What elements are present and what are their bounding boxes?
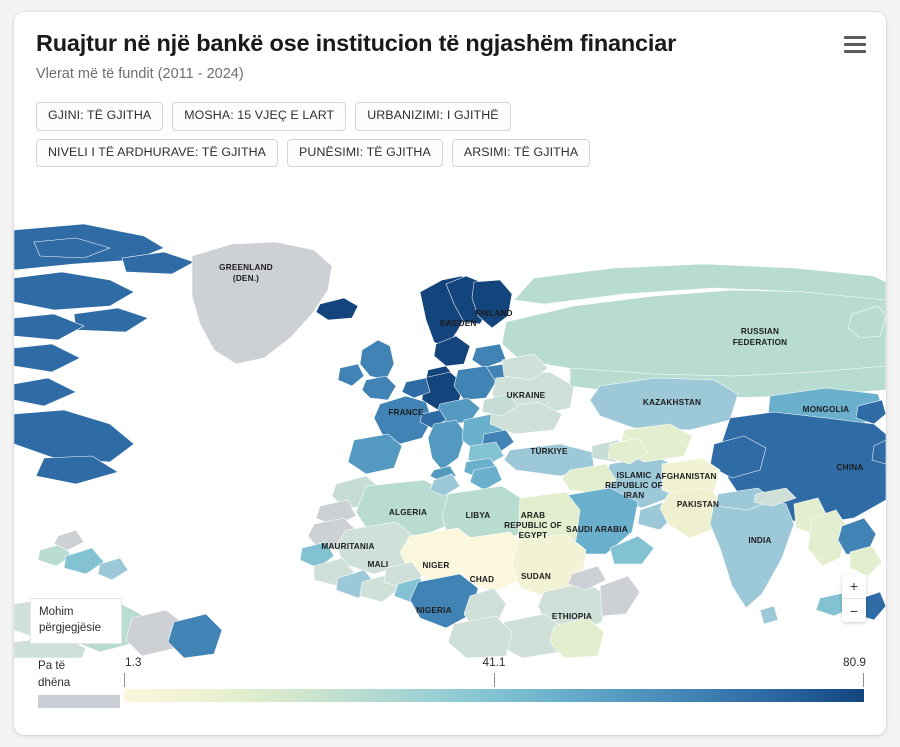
- legend-no-data: Pa të dhëna: [38, 657, 120, 708]
- filter-chip-gender[interactable]: GJINI: TË GJITHA: [36, 102, 163, 131]
- legend-no-data-label: Pa të dhëna: [38, 657, 120, 692]
- page-subtitle: Vlerat më të fundit (2011 - 2024): [36, 66, 864, 82]
- zoom-out-button[interactable]: −: [842, 598, 866, 622]
- legend-tick-mark: [494, 673, 495, 687]
- map-disclaimer[interactable]: Mohim përgjegjësie: [30, 598, 122, 644]
- page-title: Ruajtur në një bankë ose institucion të …: [36, 30, 864, 57]
- legend-no-data-swatch: [38, 695, 120, 708]
- hamburger-bar: [844, 50, 866, 53]
- legend-no-data-line2: dhëna: [38, 676, 70, 689]
- legend-gradient-bar: [124, 689, 864, 702]
- choropleth-map[interactable]: .c { stroke:#ffffff; stroke-width:0.55; …: [14, 218, 886, 658]
- legend-no-data-line1: Pa të: [38, 659, 65, 672]
- legend-tick-mark: [863, 673, 864, 687]
- hamburger-bar: [844, 43, 866, 46]
- map-legend: Pa të dhëna 1.3 41.1 80.9: [14, 649, 886, 735]
- hamburger-bar: [844, 36, 866, 39]
- filter-chip-group: GJINI: TË GJITHA MOSHA: 15 VJEÇ E LART U…: [14, 82, 774, 167]
- legend-tick-max: 80.9: [843, 657, 864, 687]
- filter-chip-urbanization[interactable]: URBANIZIMI: I GJITHË: [355, 102, 510, 131]
- map-zoom-controls[interactable]: + −: [842, 574, 866, 622]
- dashboard-card: Ruajtur në një bankë ose institucion të …: [14, 12, 886, 735]
- legend-tick-mid: 41.1: [494, 657, 517, 687]
- legend-tick-min: 1.3: [124, 657, 141, 687]
- filter-chip-education[interactable]: ARSIMI: TË GJITHA: [452, 139, 590, 168]
- filter-chip-employment[interactable]: PUNËSIMI: TË GJITHA: [287, 139, 443, 168]
- legend-min-value: 1.3: [125, 657, 141, 669]
- filter-chip-age[interactable]: MOSHA: 15 VJEÇ E LART: [172, 102, 346, 131]
- legend-max-value: 80.9: [843, 657, 866, 669]
- legend-color-scale: 1.3 41.1 80.9: [124, 657, 864, 702]
- legend-mid-value: 41.1: [483, 657, 506, 669]
- legend-tick-mark: [124, 673, 125, 687]
- legend-tick-group: 1.3 41.1 80.9: [124, 657, 864, 689]
- filter-chip-income-level[interactable]: NIVELI I TË ARDHURAVE: TË GJITHA: [36, 139, 278, 168]
- hamburger-menu-icon[interactable]: [842, 32, 868, 56]
- zoom-in-button[interactable]: +: [842, 574, 866, 598]
- card-header: Ruajtur në një bankë ose institucion të …: [14, 12, 886, 82]
- map-canvas[interactable]: .c { stroke:#ffffff; stroke-width:0.55; …: [14, 218, 886, 658]
